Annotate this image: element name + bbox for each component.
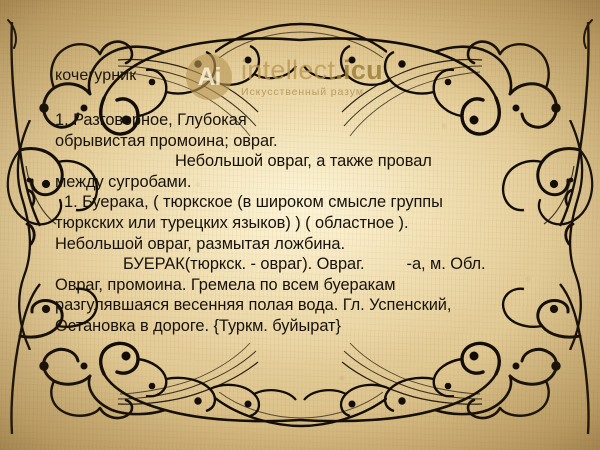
entry-line-5: 1. Буерака, ( тюркское (в широком смысле…	[64, 193, 443, 211]
entry-line-8: БУЕРАК(тюркск. - овраг). Овраг.	[123, 255, 365, 273]
entry-line-9: Овраг, промоина. Гремела по всем буерака…	[55, 276, 395, 294]
entry-line-1: 1. Разговорное, Глубокая	[55, 111, 247, 129]
entry-line-8b: -а, м. Обл.	[407, 255, 486, 273]
entry-line-6: тюркских или турецких языков) ) ( област…	[55, 214, 408, 232]
entry-line-3: Небольшой овраг, а также провал	[175, 152, 432, 170]
entry-body: 1. Разговорное, Глубокаяобрывистая промо…	[55, 110, 555, 337]
entry-line-4: между сугробами.	[55, 173, 191, 191]
entry-line-7: Небольшой овраг, размытая ложбина.	[55, 235, 345, 253]
dictionary-entry: кочегурник 1. Разговорное, Глубокаяобрыв…	[0, 0, 600, 450]
page-title: кочегурник	[55, 68, 136, 84]
entry-line-2: обрывистая промоина; овраг.	[55, 132, 277, 150]
parchment-page: Ai intellect.icu Искусственный разум коч…	[0, 0, 600, 450]
entry-line-11: Остановка в дороге. {Туркм. буйырат}	[55, 317, 341, 335]
entry-line-10: разгулявшаяся весенняя полая вода. Гл. У…	[55, 296, 451, 314]
